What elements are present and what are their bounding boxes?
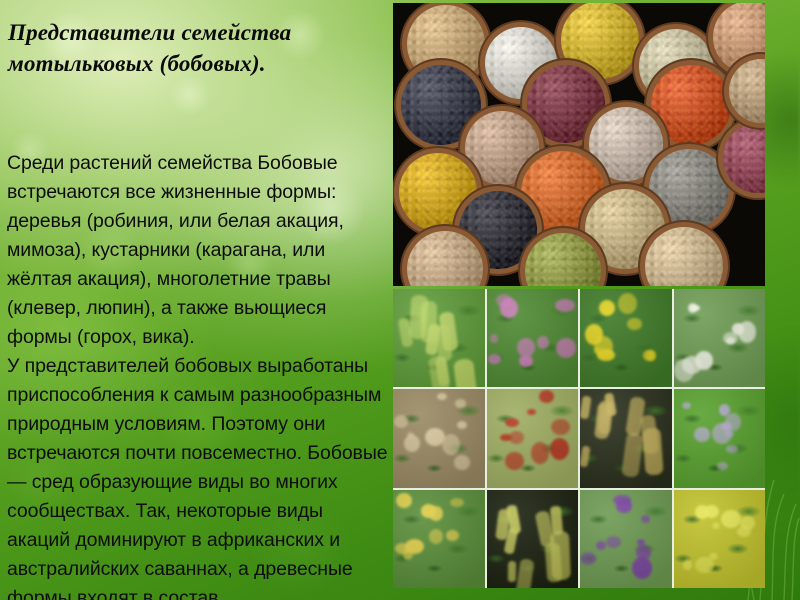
plant-accent <box>683 560 692 569</box>
plant-accent <box>550 438 569 460</box>
foliage-texture <box>580 389 672 487</box>
collage-cell-yellow-clover-flowers <box>393 490 485 588</box>
plant-accent <box>506 505 522 535</box>
plant-accent <box>404 435 420 452</box>
plant-accent <box>690 305 700 311</box>
plant-accent <box>442 434 460 455</box>
bowl-cranberry-beans <box>589 107 663 181</box>
text-column: Представители семейства мотыльковых (боб… <box>0 0 392 600</box>
plant-accent <box>725 413 741 431</box>
plant-accent <box>721 510 741 528</box>
plant-accent <box>490 334 498 343</box>
plant-accent <box>682 402 691 409</box>
plant-accent <box>407 432 414 438</box>
plant-accent <box>704 505 719 518</box>
bowl-red-lentils <box>651 65 731 145</box>
slide-root: Представители семейства мотыльковых (боб… <box>0 0 800 600</box>
plant-accent <box>496 294 512 307</box>
plant-accent <box>403 548 413 560</box>
plant-accent <box>596 541 606 550</box>
plant-accent <box>580 552 596 565</box>
collage-cell-peanut-plant-in-soil <box>393 389 485 487</box>
foliage-texture <box>580 289 672 387</box>
plant-accent <box>446 530 459 541</box>
foliage-texture <box>674 289 766 387</box>
plant-accent <box>507 561 515 582</box>
plant-accent <box>732 323 744 334</box>
plant-accent <box>726 337 735 344</box>
plant-accent <box>726 445 738 452</box>
plant-accent <box>450 498 464 507</box>
plant-accent <box>613 495 631 506</box>
plant-accent <box>495 509 511 541</box>
plant-accent <box>695 505 709 519</box>
plant-accent <box>738 321 756 343</box>
foliage-texture <box>580 490 672 588</box>
collage-cell-pink-clover-flower <box>487 289 579 387</box>
plant-accent <box>537 336 549 348</box>
foliage-texture <box>487 389 579 487</box>
plant-accent <box>641 515 650 523</box>
plant-accent <box>539 390 554 403</box>
collage-cell-white-sweet-clover <box>674 289 766 387</box>
plant-accent <box>695 557 714 574</box>
plant-accent <box>488 354 501 364</box>
bowl-grid <box>393 3 765 286</box>
plant-accent <box>712 522 720 529</box>
plant-accent <box>527 409 536 415</box>
plant-accent <box>454 455 470 470</box>
plant-accent <box>712 423 732 444</box>
collage-cell-pea-pod <box>393 289 485 387</box>
plant-accent <box>439 311 459 352</box>
plant-accent <box>606 536 621 548</box>
plant-accent <box>503 527 518 554</box>
collage-cell-bean-pods-harvest <box>580 389 672 487</box>
plant-accent <box>682 356 702 374</box>
plant-accent <box>724 431 734 437</box>
collage-cell-red-flowering-legume <box>487 389 579 487</box>
plant-accent <box>517 338 535 357</box>
plant-accent <box>534 510 555 548</box>
plant-accent <box>737 526 751 537</box>
plant-accent <box>640 414 660 455</box>
foliage-texture <box>393 490 485 588</box>
collage-cell-yellow-vetch-flowers <box>580 289 672 387</box>
foliage-texture <box>393 389 485 487</box>
slide-title: Представители семейства мотыльковых (боб… <box>8 17 368 79</box>
plant-accent <box>717 462 728 470</box>
foliage-texture <box>674 490 766 588</box>
plant-accent <box>398 317 414 347</box>
plant-accent <box>500 298 518 318</box>
plant-accent <box>519 355 533 368</box>
collage-cell-yellow-acacia-mimosa <box>674 490 766 588</box>
plant-accent <box>688 303 697 313</box>
collage-cell-lupine-flowers <box>674 389 766 487</box>
collage-cell-soybean-pods <box>487 490 579 588</box>
plant-accent <box>555 299 575 312</box>
plant-accent <box>616 499 632 513</box>
plant-accent <box>618 293 637 314</box>
plant-accent <box>647 350 656 361</box>
plant-accent <box>580 446 591 468</box>
plant-accent <box>604 393 617 418</box>
paragraph-1: Среди растений семейства Бобовые встреча… <box>7 149 389 353</box>
plant-accent <box>721 422 732 432</box>
plant-accent <box>395 543 410 555</box>
plant-accent <box>531 442 549 464</box>
plant-accent <box>643 350 655 361</box>
plant-accent <box>405 539 424 554</box>
plant-accent <box>621 432 644 478</box>
foliage-texture <box>487 289 579 387</box>
foliage-texture <box>393 289 485 387</box>
plant-accent <box>549 506 562 535</box>
plant-accent <box>425 324 441 357</box>
plant-accent <box>505 452 524 469</box>
plant-accent <box>551 419 570 435</box>
plant-accent <box>453 358 479 388</box>
plant-accent <box>599 300 615 316</box>
plant-accent <box>585 324 603 345</box>
plant-accent <box>556 338 576 358</box>
plant-accent <box>723 332 738 344</box>
plant-accent <box>632 557 652 579</box>
plant-accent <box>740 516 755 530</box>
collage-cell-purple-alfalfa-flowers <box>580 490 672 588</box>
beans-bowls-photo <box>393 3 765 286</box>
plant-accent <box>625 396 646 437</box>
plant-accent <box>594 402 612 440</box>
plant-accent <box>455 399 466 408</box>
plant-accent <box>598 400 614 435</box>
plant-accent <box>396 493 412 509</box>
foliage-texture <box>487 490 579 588</box>
plant-accent <box>515 559 534 588</box>
foliage-texture <box>674 389 766 487</box>
plant-accent <box>394 415 408 428</box>
paragraph-2: У представителей бобовых выработаны прис… <box>7 352 389 600</box>
plant-accent <box>627 318 642 331</box>
plant-accent <box>550 531 571 581</box>
plant-accent <box>505 418 519 427</box>
plant-accent <box>719 404 730 416</box>
plant-accent <box>435 325 452 362</box>
plant-accent <box>694 427 710 443</box>
bowl-edge-beans-right <box>723 123 765 193</box>
plant-accent <box>421 301 437 343</box>
plant-accent <box>642 427 663 475</box>
legume-plants-collage <box>393 289 765 588</box>
plant-accent <box>427 355 451 388</box>
plant-accent <box>637 539 645 546</box>
plant-accent <box>709 553 718 560</box>
plant-accent <box>597 349 615 361</box>
plant-accent <box>580 396 592 420</box>
plant-accent <box>457 421 467 429</box>
plant-accent <box>674 359 694 382</box>
plant-accent <box>695 351 713 370</box>
plant-accent <box>421 504 436 517</box>
plant-accent <box>437 393 447 400</box>
plant-accent <box>429 506 443 521</box>
plant-accent <box>594 336 613 357</box>
plant-accent <box>409 294 429 339</box>
plant-accent <box>509 431 524 444</box>
plant-accent <box>594 347 602 354</box>
plant-accent <box>425 428 445 446</box>
plant-accent <box>500 434 512 442</box>
plant-accent <box>429 529 443 544</box>
plant-accent <box>435 356 450 386</box>
plant-accent <box>545 542 563 582</box>
plant-accent <box>636 545 651 560</box>
